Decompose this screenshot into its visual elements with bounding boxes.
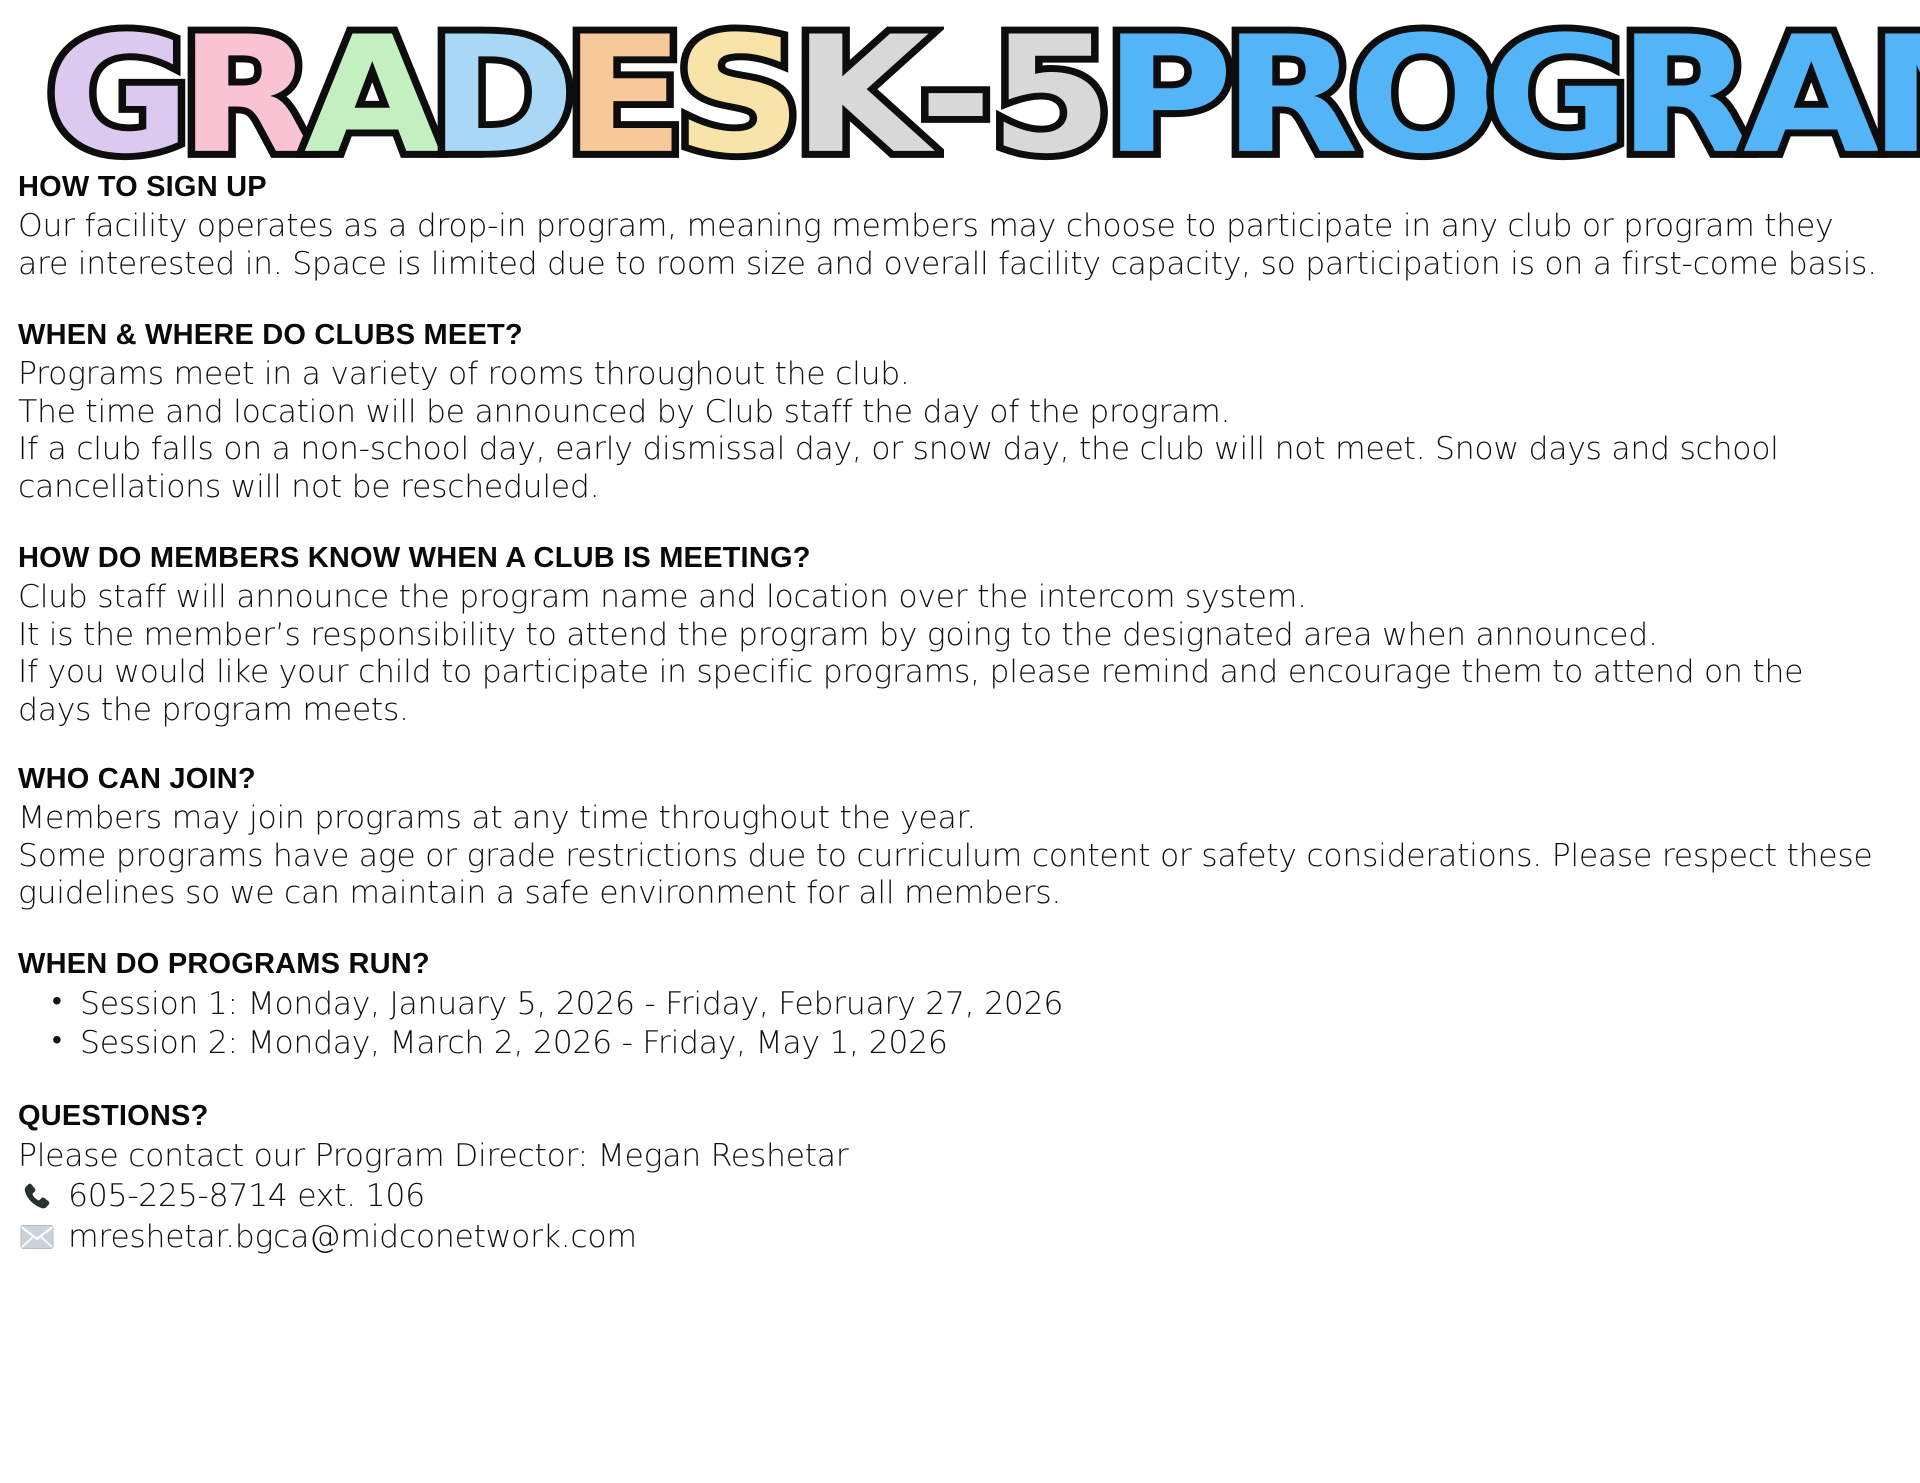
paragraph-how-to-sign-up: Our facility operates as a drop-in progr… [18,208,1878,283]
list-item: Session 2: Monday, March 2, 2026 - Frida… [80,1024,1902,1063]
title-letter: E [564,22,682,170]
section-when-where-clubs-meet: WHEN & WHERE DO CLUBS MEET? Programs mee… [18,318,1902,507]
page-title: GRADESK-5PROGRAMS: [46,18,1886,170]
title-letter: O [1348,22,1496,170]
heading-how-members-know: HOW DO MEMBERS KNOW WHEN A CLUB IS MEETI… [18,541,1902,576]
know-line-1: Club staff will announce the program nam… [18,579,1878,617]
title-letter: A [304,22,438,170]
who-line-2: Some programs have age or grade restrict… [18,838,1878,913]
heading-when-programs-run: WHEN DO PROGRAMS RUN? [18,947,1902,982]
heading-questions: QUESTIONS? [18,1099,1902,1134]
contact-email-row: mreshetar.bgca@midconetwork.com [18,1218,1902,1256]
title-letter: D [429,22,573,170]
contact-phone-row: 605-225-8714 ext. 106 [18,1177,1902,1215]
phone-icon [18,1180,56,1214]
section-how-members-know: HOW DO MEMBERS KNOW WHEN A CLUB IS MEETI… [18,541,1902,730]
session-list: Session 1: Monday, January 5, 2026 - Fri… [18,985,1902,1063]
section-when-programs-run: WHEN DO PROGRAMS RUN? Session 1: Monday,… [18,947,1902,1063]
title-letter: M [1869,22,1920,170]
flyer-content: HOW TO SIGN UP Our facility operates as … [18,170,1902,1256]
meet-line-1: Programs meet in a variety of rooms thro… [18,356,1878,394]
heading-when-where-clubs-meet: WHEN & WHERE DO CLUBS MEET? [18,318,1902,353]
title-letter: R [1618,22,1751,170]
know-line-3: If you would like your child to particip… [18,654,1878,729]
list-item: Session 1: Monday, January 5, 2026 - Fri… [80,985,1902,1024]
section-questions: QUESTIONS? Please contact our Program Di… [18,1099,1902,1256]
contact-intro: Please contact our Program Director: Meg… [18,1138,1878,1176]
meet-line-2: The time and location will be announced … [18,394,1878,432]
know-line-2: It is the member’s responsibility to att… [18,617,1878,655]
title-letter: R [1223,22,1356,170]
meet-line-3: If a club falls on a non-school day, ear… [18,431,1878,506]
title-letter: A [1743,22,1877,170]
heading-how-to-sign-up: HOW TO SIGN UP [18,170,1902,205]
title-letter: R [179,22,312,170]
title-letter: - [919,22,990,170]
phone-number: 605-225-8714 ext. 106 [68,1177,425,1215]
who-line-1: Members may join programs at any time th… [18,800,1878,838]
title-letter: S [675,22,800,170]
title-letter: P [1104,22,1231,170]
section-who-can-join: WHO CAN JOIN? Members may join programs … [18,762,1902,913]
section-how-to-sign-up: HOW TO SIGN UP Our facility operates as … [18,170,1902,284]
title-letter: G [1485,22,1627,170]
title-letter: 5 [990,22,1110,170]
email-address: mreshetar.bgca@midconetwork.com [68,1218,637,1256]
flyer-page: GRADESK-5PROGRAMS: HOW TO SIGN UP Our fa… [0,0,1920,1483]
title-letter: G [46,22,188,170]
heading-who-can-join: WHO CAN JOIN? [18,762,1902,797]
envelope-icon [18,1220,56,1254]
title-letter: K [793,22,927,170]
